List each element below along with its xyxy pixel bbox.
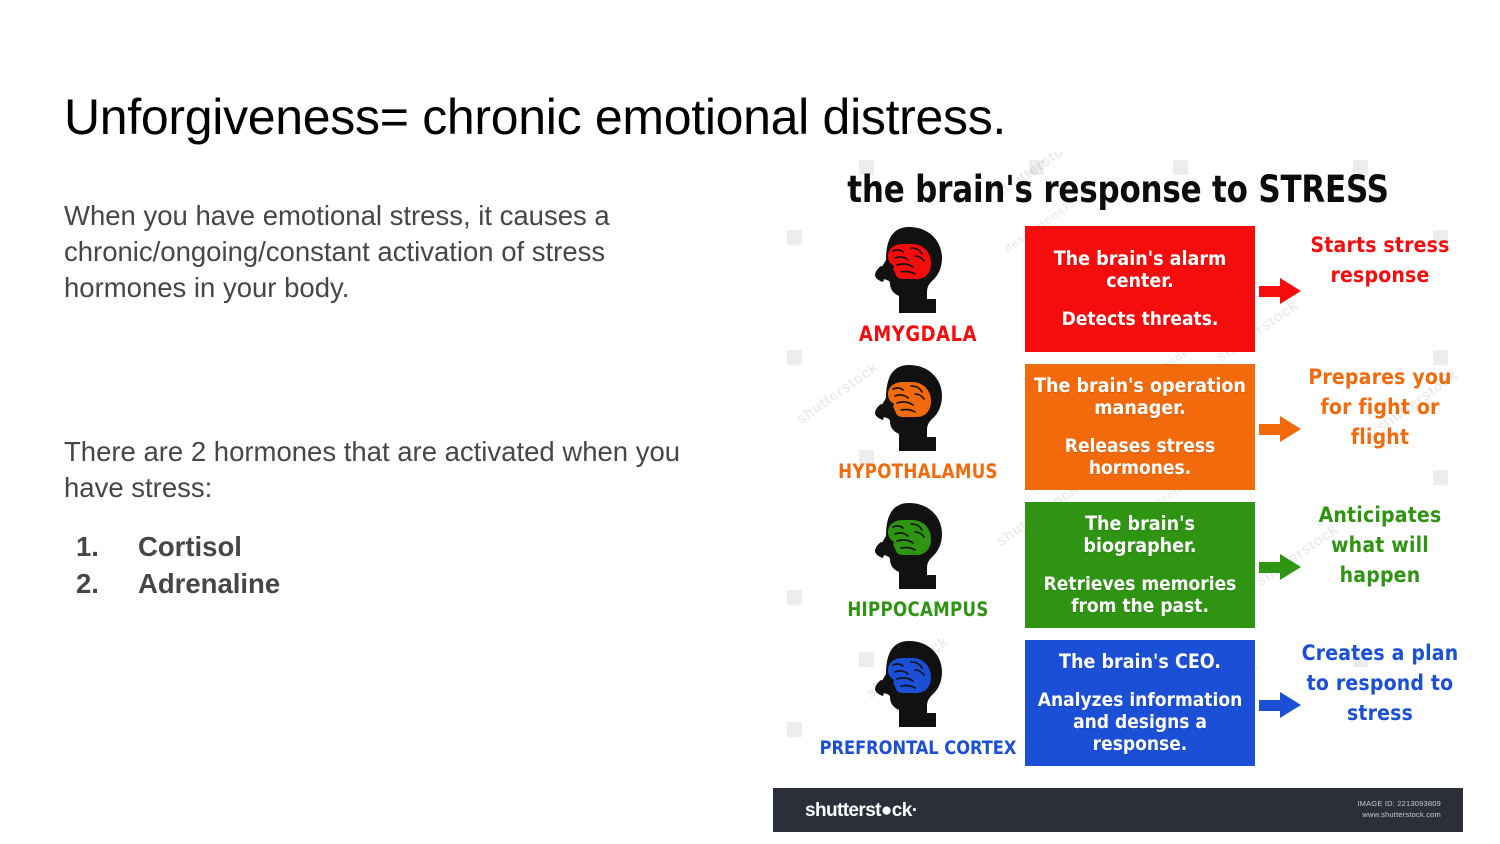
slide: Unforgiveness= chronic emotional distres…: [0, 0, 1500, 844]
description-box: The brain's biographer. Retrieves memori…: [1025, 502, 1255, 628]
arrow-right-icon: [1259, 416, 1301, 442]
list-item-label: Cortisol: [138, 528, 242, 565]
brain-head-icon: [859, 500, 959, 600]
description-line-2: Releases stress hormones.: [1033, 435, 1247, 479]
list-item: 1. Cortisol: [64, 528, 724, 565]
description-line-2: Detects threats.: [1062, 308, 1219, 330]
organ-cell: PREFRONTAL CORTEX: [807, 636, 1029, 774]
list-item-label: Adrenaline: [138, 565, 280, 602]
arrow-right-icon: [1259, 278, 1301, 304]
description-line-1: The brain's biographer.: [1033, 513, 1247, 557]
arrow-right-icon: [1259, 554, 1301, 580]
hormone-list: 1. Cortisol 2. Adrenaline: [64, 528, 724, 602]
infographic-heading: the brain's response to STRESS: [797, 170, 1439, 210]
infographic-row-prefrontal-cortex: PREFRONTAL CORTEX The brain's CEO. Analy…: [773, 636, 1463, 774]
infographic-row-hypothalamus: HYPOTHALAMUS The brain's operation manag…: [773, 360, 1463, 498]
description-line-1: The brain's CEO.: [1059, 651, 1221, 673]
description-box: The brain's operation manager. Releases …: [1025, 364, 1255, 490]
page-title: Unforgiveness= chronic emotional distres…: [64, 88, 1124, 146]
organ-cell: AMYGDALA: [807, 222, 1029, 360]
shutterstock-url: www.shutterstock.com: [1357, 809, 1441, 820]
image-id-text: IMAGE ID: 2213093809: [1357, 798, 1441, 809]
organ-cell: HIPPOCAMPUS: [807, 498, 1029, 636]
brain-head-icon: [859, 224, 959, 324]
brain-stress-infographic: shutterstock desdemona72 shutterstock de…: [773, 152, 1463, 832]
brain-head-icon: [859, 362, 959, 462]
list-item-marker: 1.: [64, 528, 138, 565]
paragraph-2: There are 2 hormones that are activated …: [64, 434, 724, 506]
outcome-text: Anticipates what will happen: [1301, 500, 1459, 590]
outcome-text: Prepares you for fight or flight: [1301, 362, 1459, 452]
description-box: The brain's CEO. Analyzes information an…: [1025, 640, 1255, 766]
list-item-marker: 2.: [64, 565, 138, 602]
organ-cell: HYPOTHALAMUS: [807, 360, 1029, 498]
outcome-text: Starts stress response: [1301, 230, 1459, 290]
infographic-row-amygdala: AMYGDALA The brain's alarm center. Detec…: [773, 222, 1463, 360]
paragraph-1: When you have emotional stress, it cause…: [64, 198, 724, 306]
list-item: 2. Adrenaline: [64, 565, 724, 602]
shutterstock-logo: shutterst●ck·: [805, 800, 917, 822]
description-line-1: The brain's operation manager.: [1033, 375, 1247, 419]
description-line-2: Retrieves memories from the past.: [1033, 573, 1247, 617]
organ-label: PREFRONTAL CORTEX: [813, 736, 1024, 760]
body-text-column: When you have emotional stress, it cause…: [64, 198, 724, 602]
organ-label: HYPOTHALAMUS: [813, 460, 1024, 484]
arrow-right-icon: [1259, 692, 1301, 718]
shutterstock-footer-bar: shutterst●ck· IMAGE ID: 2213093809 www.s…: [773, 788, 1463, 832]
infographic-row-hippocampus: HIPPOCAMPUS The brain's biographer. Retr…: [773, 498, 1463, 636]
description-box: The brain's alarm center. Detects threat…: [1025, 226, 1255, 352]
organ-label: AMYGDALA: [813, 322, 1024, 346]
description-line-2: Analyzes information and designs a respo…: [1033, 689, 1247, 755]
outcome-text: Creates a plan to respond to stress: [1301, 638, 1459, 728]
brain-head-icon: [859, 638, 959, 738]
shutterstock-meta: IMAGE ID: 2213093809 www.shutterstock.co…: [1357, 798, 1441, 820]
organ-label: HIPPOCAMPUS: [813, 598, 1024, 622]
description-line-1: The brain's alarm center.: [1033, 248, 1247, 292]
